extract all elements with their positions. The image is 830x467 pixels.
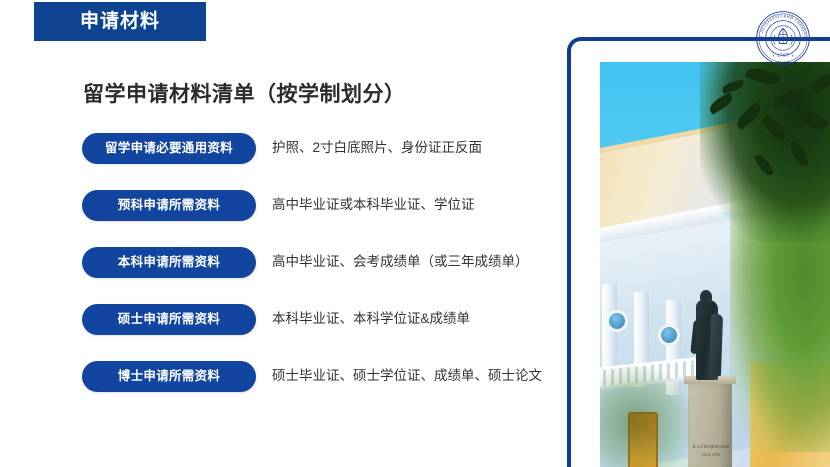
tree-left-low	[600, 367, 690, 467]
list-item: 留学申请必要通用资料 护照、2寸白底照片、身份证正反面	[82, 133, 552, 190]
materials-list: 留学申请必要通用资料 护照、2寸白底照片、身份证正反面 预科申请所需资料 高中毕…	[82, 133, 552, 418]
statue-coat	[709, 314, 723, 376]
category-pill-bachelor[interactable]: 本科申请所需资料	[82, 247, 256, 278]
slide-root: 申请材料 留学申请材料清单（按学制划分） 留学申请必要通用资料 护照、2寸白底照…	[0, 0, 830, 467]
category-pill-label: 博士申请所需资料	[118, 370, 220, 383]
pedestal-inscription-name: П.А.ГЕРЦЕНСКИЙ	[692, 444, 730, 450]
category-pill-foundation[interactable]: 预科申请所需资料	[82, 190, 256, 221]
list-item: 博士申请所需资料 硕士毕业证、硕士学位证、成绩单、硕士论文	[82, 361, 552, 418]
category-pill-doctor[interactable]: 博士申请所需资料	[82, 361, 256, 392]
seal-year: 1797	[777, 53, 789, 59]
university-building-statue-photo: П.А.ГЕРЦЕНСКИЙ 1812-1870	[600, 62, 830, 467]
category-pill-label: 预科申请所需资料	[118, 199, 220, 212]
category-pill-master[interactable]: 硕士申请所需资料	[82, 304, 256, 335]
category-pill-general[interactable]: 留学申请必要通用资料	[82, 133, 256, 164]
oval-window	[606, 310, 628, 332]
pedestal-inscription-years: 1812-1870	[692, 452, 730, 458]
category-pill-label: 留学申请必要通用资料	[105, 142, 233, 155]
list-item: 硕士申请所需资料 本科毕业证、本科学位证&成绩单	[82, 304, 552, 361]
tree-canopy-silhouette	[700, 62, 830, 242]
list-item: 本科申请所需资料 高中毕业证、会考成绩单（或三年成绩单）	[82, 247, 552, 304]
category-pill-label: 硕士申请所需资料	[118, 313, 220, 326]
category-description: 高中毕业证、会考成绩单（或三年成绩单）	[272, 254, 529, 270]
statue-head	[700, 290, 712, 304]
page-title: 留学申请材料清单（按学制划分）	[83, 78, 406, 108]
category-pill-label: 本科申请所需资料	[118, 256, 220, 269]
category-description: 硕士毕业证、硕士学位证、成绩单、硕士论文	[272, 368, 542, 384]
section-badge: 申请材料	[34, 2, 206, 41]
category-description: 本科毕业证、本科学位证&成绩单	[272, 311, 470, 327]
list-item: 预科申请所需资料 高中毕业证或本科毕业证、学位证	[82, 190, 552, 247]
category-description: 高中毕业证或本科毕业证、学位证	[272, 197, 475, 213]
section-badge-label: 申请材料	[80, 12, 160, 31]
university-seal-logo: САНКТ-ПЕТЕРБУРГСКИЙ УНИВЕРСИТЕТ 1797	[755, 10, 811, 66]
category-description: 护照、2寸白底照片、身份证正反面	[272, 140, 482, 156]
oval-window	[658, 324, 680, 346]
